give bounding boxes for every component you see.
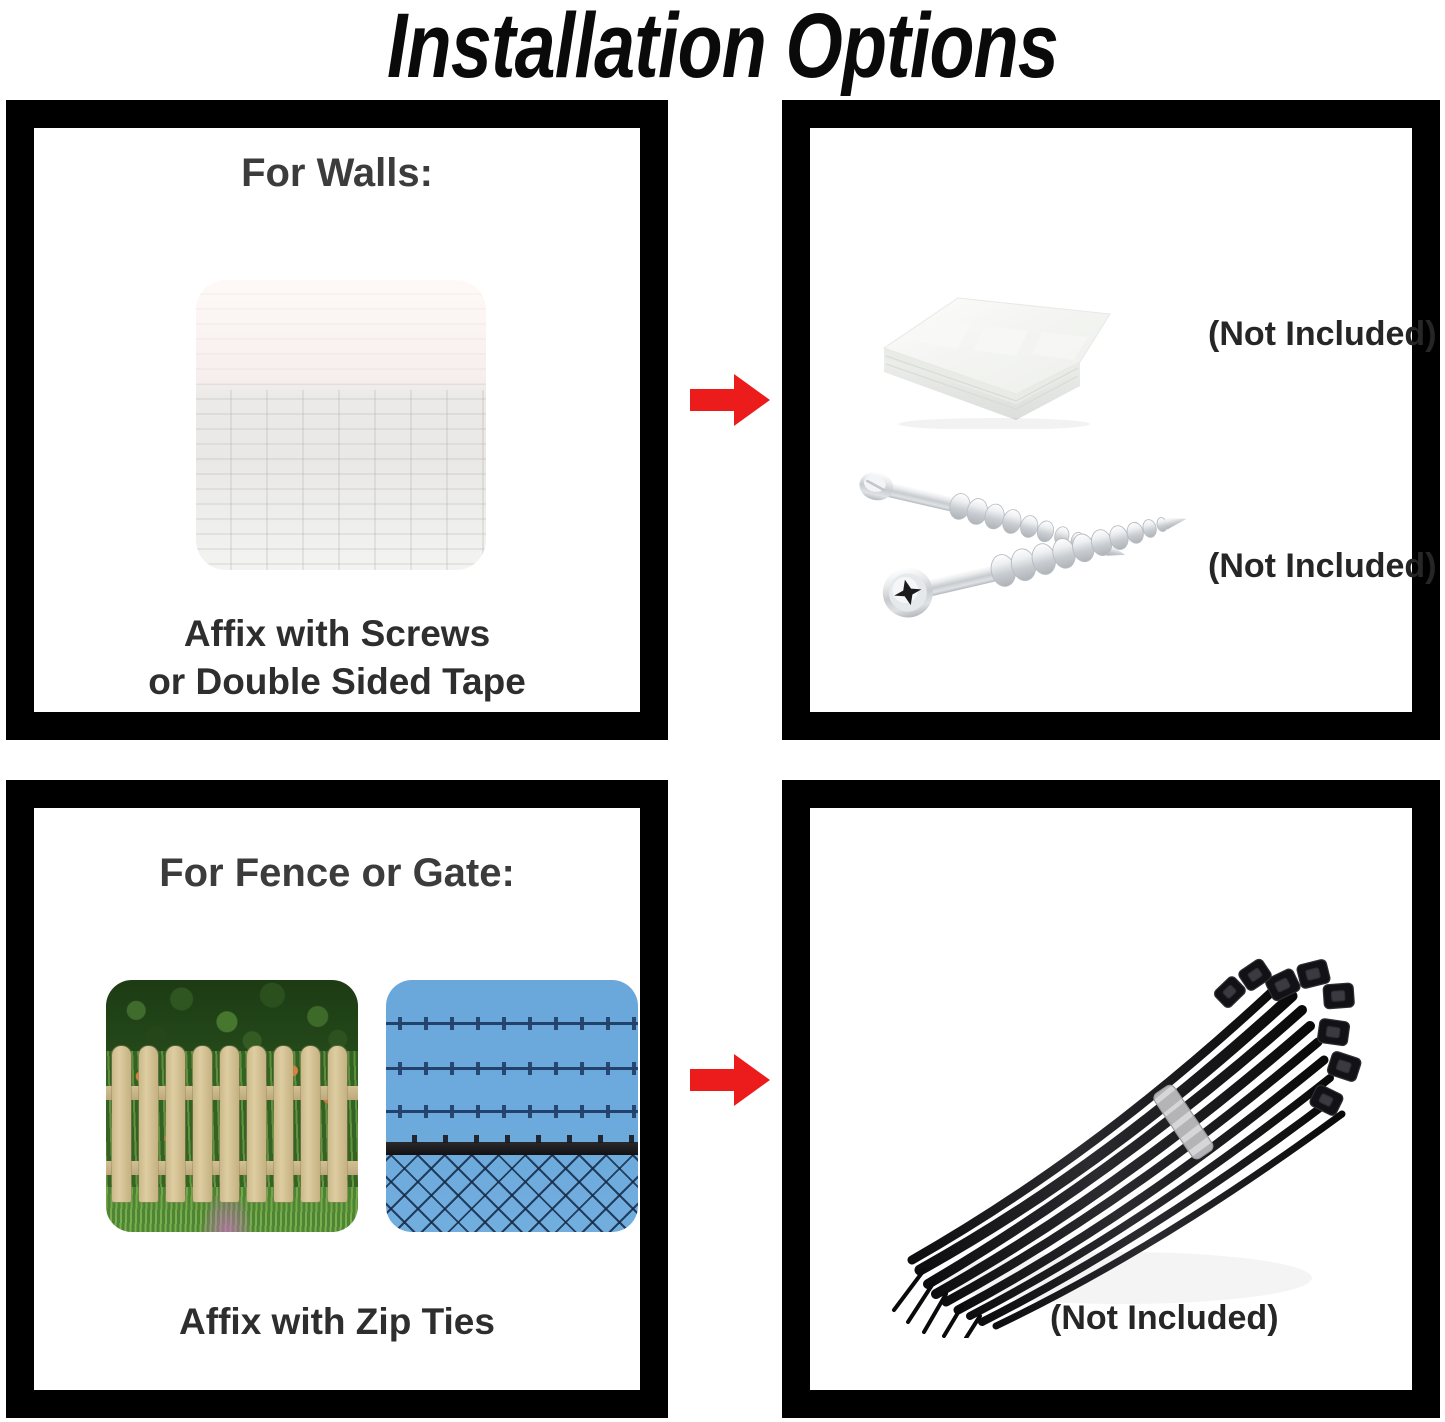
- tape-stack-icon: [866, 244, 1126, 429]
- red-arrow-right-icon: [688, 1052, 772, 1108]
- fence-picket: [112, 1046, 131, 1202]
- panel-wall-hardware: (Not Included): [782, 100, 1440, 740]
- for-walls-heading: For Walls:: [34, 150, 640, 196]
- chain-link-mesh: [386, 1155, 638, 1232]
- screws-icon: [840, 458, 1210, 633]
- for-fence-caption: Affix with Zip Ties: [34, 1298, 640, 1346]
- silver-screws-image: [840, 458, 1210, 633]
- barbed-wire-strand: [386, 1022, 638, 1025]
- fence-picket: [139, 1046, 158, 1202]
- white-brick-wall-image: [196, 280, 486, 570]
- red-arrow-right-icon: [688, 372, 772, 428]
- hedge-background: [106, 980, 358, 1056]
- black-zip-ties-image: [872, 918, 1372, 1338]
- zip-ties-icon: [872, 918, 1372, 1338]
- fence-picket: [193, 1046, 212, 1202]
- panel-for-fence-or-gate: For Fence or Gate:: [6, 780, 668, 1418]
- wooden-picket-fence-photo: [106, 980, 358, 1232]
- chain-link-barbed-wire-fence-photo: [386, 980, 638, 1232]
- zip-ties-not-included-label: (Not Included): [1050, 1298, 1279, 1338]
- fence-picket: [301, 1046, 320, 1202]
- panel-zip-ties: (Not Included): [782, 780, 1440, 1418]
- barbed-wire-strand: [386, 1067, 638, 1070]
- fence-picket: [220, 1046, 239, 1202]
- double-sided-tape-stack-image: [866, 244, 1126, 429]
- for-walls-caption-line-1: Affix with Screws: [34, 610, 640, 658]
- for-fence-heading: For Fence or Gate:: [34, 850, 640, 896]
- fence-picket: [328, 1046, 347, 1202]
- picket-fence-boards: [106, 1046, 358, 1202]
- screws-not-included-label: (Not Included): [1208, 546, 1437, 586]
- tape-not-included-label: (Not Included): [1208, 314, 1437, 354]
- for-walls-caption-line-2: or Double Sided Tape: [34, 658, 640, 706]
- barbed-wire-strand: [386, 1110, 638, 1113]
- brick-top-highlight: [196, 280, 486, 384]
- fence-picket: [274, 1046, 293, 1202]
- fence-picket: [166, 1046, 185, 1202]
- brick-verticals-texture: [196, 390, 486, 570]
- installation-options-infographic: Installation Options For Walls: Affix wi…: [0, 0, 1445, 1422]
- panel-for-walls: For Walls: Affix with Screws or Double S…: [6, 100, 668, 740]
- fence-picket: [247, 1046, 266, 1202]
- page-title: Installation Options: [145, 0, 1301, 96]
- fence-top-rail: [386, 1142, 638, 1155]
